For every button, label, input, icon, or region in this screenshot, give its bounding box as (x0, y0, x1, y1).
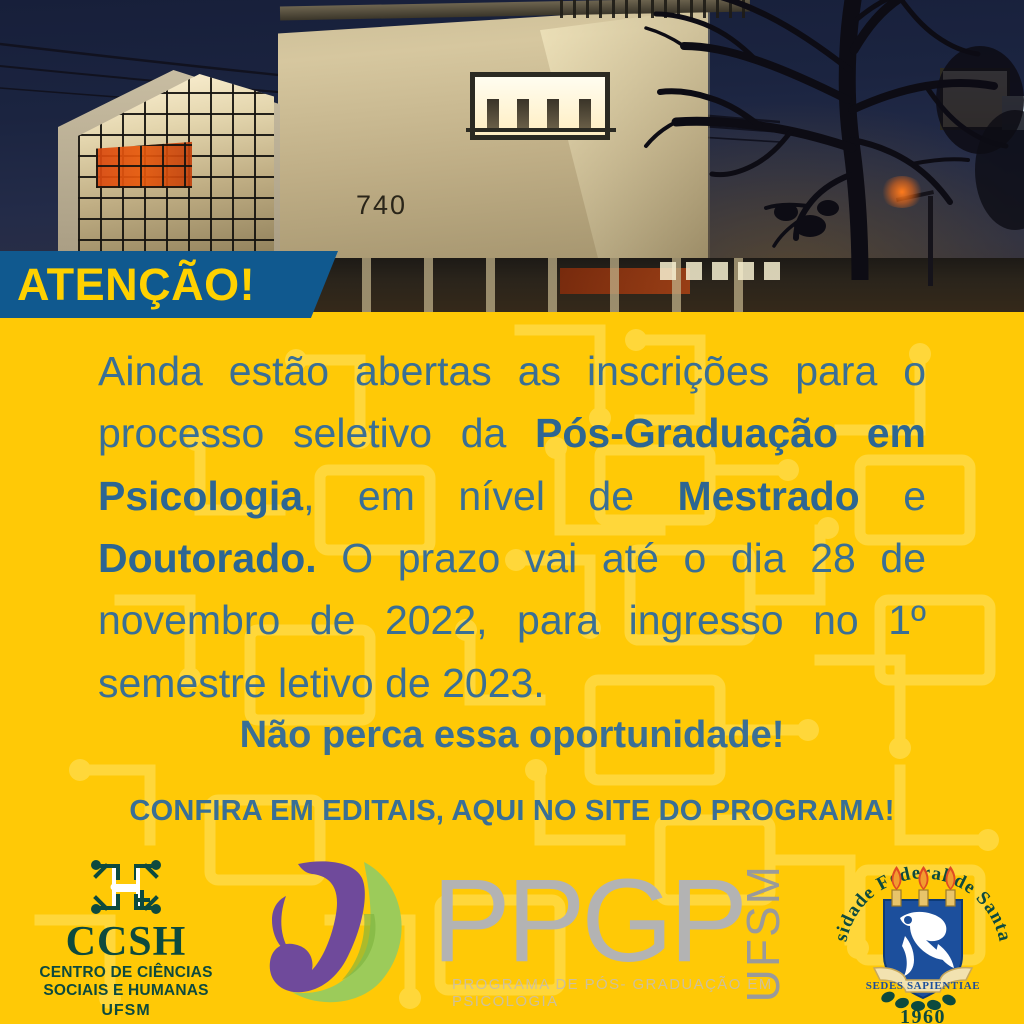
street-lamp-pole (928, 196, 933, 286)
tree-silhouette-icon (560, 0, 1024, 280)
ccsh-acronym: CCSH (10, 920, 242, 964)
ppgp-tagline: PROGRAMA DE PÓS- GRADUAÇÃO EM PSICOLOGIA (452, 976, 796, 1010)
building-number: 740 (356, 190, 407, 221)
logo-ufsm-seal: Universidade Federal de Santa Maria (822, 848, 1024, 1024)
announcement-headline: Não perca essa oportunidade! (98, 714, 926, 757)
attention-banner-label: ATENÇÃO! (17, 257, 317, 313)
ccsh-line3: UFSM (10, 1002, 242, 1020)
ccsh-emblem-icon (84, 856, 168, 918)
logo-ccsh: CCSH CENTRO DE CIÊNCIAS SOCIAIS E HUMANA… (10, 852, 242, 1024)
ccsh-line1: CENTRO DE CIÊNCIAS (10, 964, 242, 982)
ccsh-line2: SOCIAIS E HUMANAS (10, 982, 242, 1000)
announcement-paragraph: Ainda estão abertas as inscrições para o… (98, 340, 926, 714)
announcement-subline: CONFIRA EM EDITAIS, AQUI NO SITE DO PROG… (98, 795, 926, 828)
ppgp-acronym: PPGP (432, 862, 744, 980)
street-lamp-glow (880, 176, 924, 208)
ppgp-symbol-icon (256, 856, 446, 1006)
seal-motto: SEDES SAPIENTIAE (866, 980, 980, 992)
logo-row: CCSH CENTRO DE CIÊNCIAS SOCIAIS E HUMANA… (0, 848, 1024, 1024)
poster-canvas: 740 (0, 0, 1024, 1024)
seal-year: 1960 (900, 1006, 946, 1024)
logo-ppgp: PPGP UFSM PROGRAMA DE PÓS- GRADUAÇÃO EM … (256, 848, 796, 1024)
